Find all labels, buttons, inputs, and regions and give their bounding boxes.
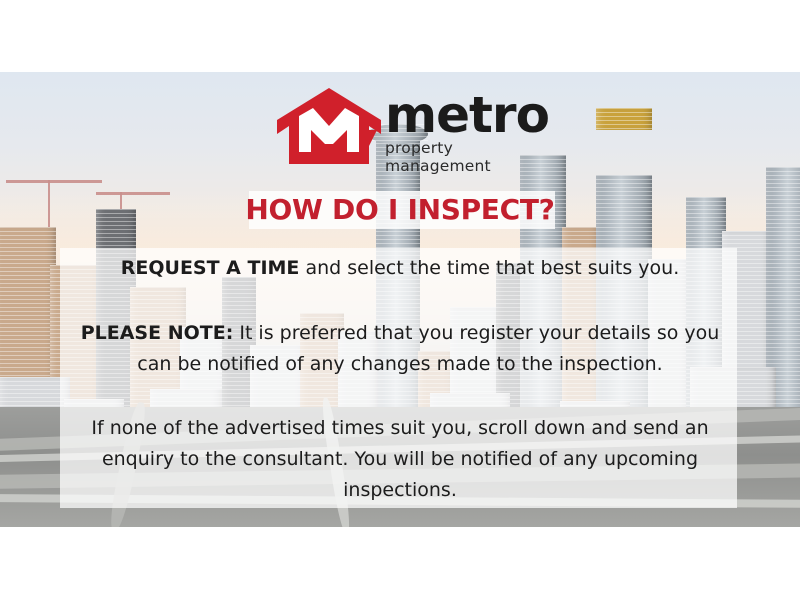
metro-logo: metro property management <box>277 86 532 170</box>
body-copy: REQUEST A TIME and select the time that … <box>66 252 734 506</box>
paragraph1-lead: REQUEST A TIME <box>121 257 300 279</box>
page-title: HOW DO I INSPECT? <box>0 193 800 227</box>
crane-jib <box>6 180 102 183</box>
slide-canvas: metro property management HOW DO I INSPE… <box>0 0 800 600</box>
paragraph-please-note: PLEASE NOTE: It is preferred that you re… <box>66 318 734 380</box>
metro-house-m-logo-icon <box>277 86 381 166</box>
brand-name: metro <box>385 86 549 144</box>
paragraph2-lead: PLEASE NOTE: <box>81 322 234 344</box>
tower-crown <box>596 108 652 130</box>
paragraph-enquiry: If none of the advertised times suit you… <box>66 413 734 506</box>
paragraph1-rest: and select the time that best suits you. <box>299 257 679 279</box>
brand-tagline: property management <box>385 139 491 175</box>
metro-wordmark: metro property management <box>385 86 549 176</box>
paragraph-request-a-time: REQUEST A TIME and select the time that … <box>66 253 734 284</box>
